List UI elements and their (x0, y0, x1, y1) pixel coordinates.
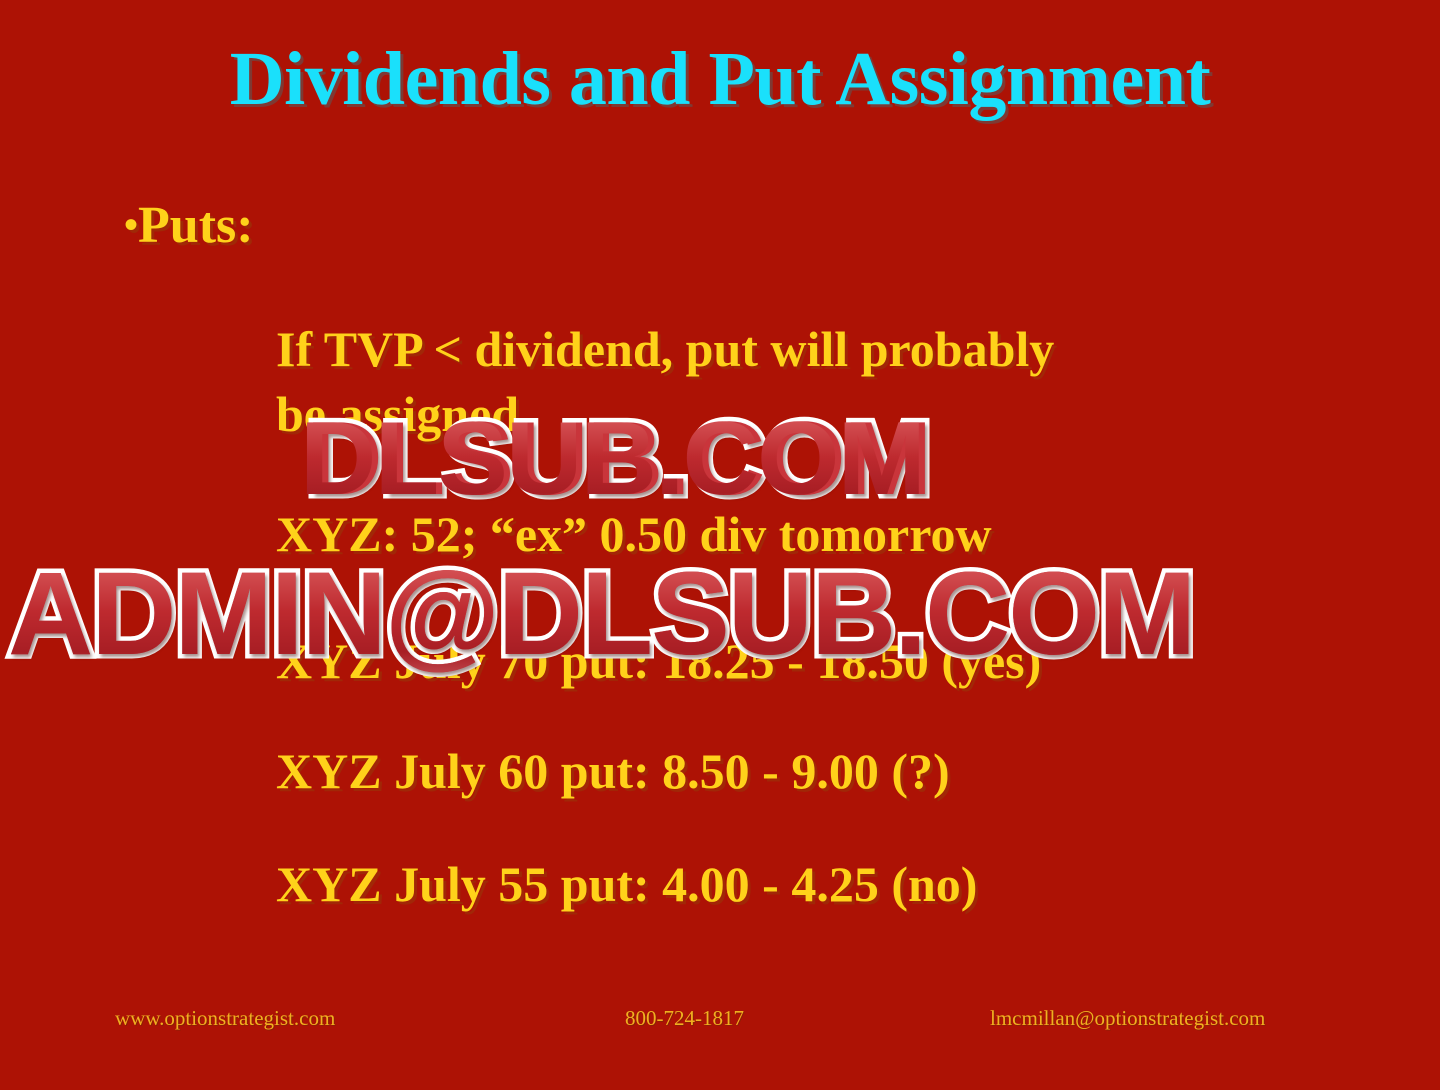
slide-canvas: Dividends and Put Assignment •Puts: If T… (0, 0, 1440, 1090)
watermark-dlsub-fill: DLSUB.COM (300, 400, 924, 519)
body-line-july-55-put: XYZ July 55 put: 4.00 - 4.25 (no) (276, 855, 977, 913)
body-line-tvp-condition: If TVP < dividend, put will probably (276, 320, 1054, 378)
footer-website: www.optionstrategist.com (115, 1006, 335, 1031)
watermark-admin-email-fill: ADMIN@DLSUB.COM (8, 546, 1194, 682)
bullet-puts-label: Puts: (138, 197, 254, 254)
bullet-dot-icon: • (124, 205, 138, 245)
slide-footer: www.optionstrategist.com 800-724-1817 lm… (0, 1006, 1440, 1040)
bullet-puts: •Puts: (124, 196, 254, 255)
slide-title: Dividends and Put Assignment (0, 36, 1440, 123)
footer-email: lmcmillan@optionstrategist.com (990, 1006, 1265, 1031)
footer-phone: 800-724-1817 (625, 1006, 744, 1031)
body-line-july-60-put: XYZ July 60 put: 8.50 - 9.00 (?) (276, 742, 950, 800)
